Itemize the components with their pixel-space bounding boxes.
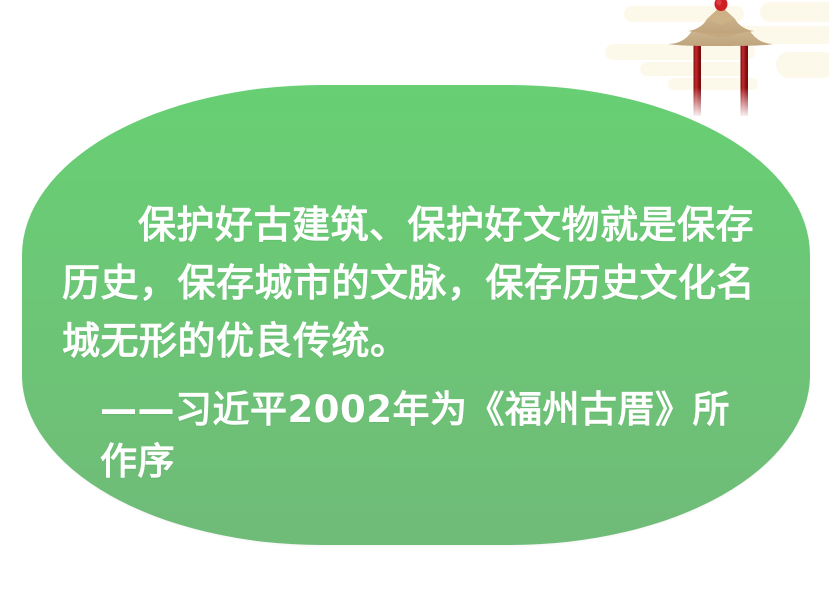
quote-block: 保护好古建筑、保护好文物就是保存历史，保存城市的文脉，保存历史文化名城无形的优良… <box>62 196 762 488</box>
quote-attribution-text: ——习近平2002年为《福州古厝》所作序 <box>62 384 762 488</box>
quote-body-text: 保护好古建筑、保护好文物就是保存历史，保存城市的文脉，保存历史文化名城无形的优良… <box>62 196 762 370</box>
slide-canvas: 保护好古建筑、保护好文物就是保存历史，保存城市的文脉，保存历史文化名城无形的优良… <box>0 0 829 600</box>
pagoda-icon <box>660 0 790 118</box>
